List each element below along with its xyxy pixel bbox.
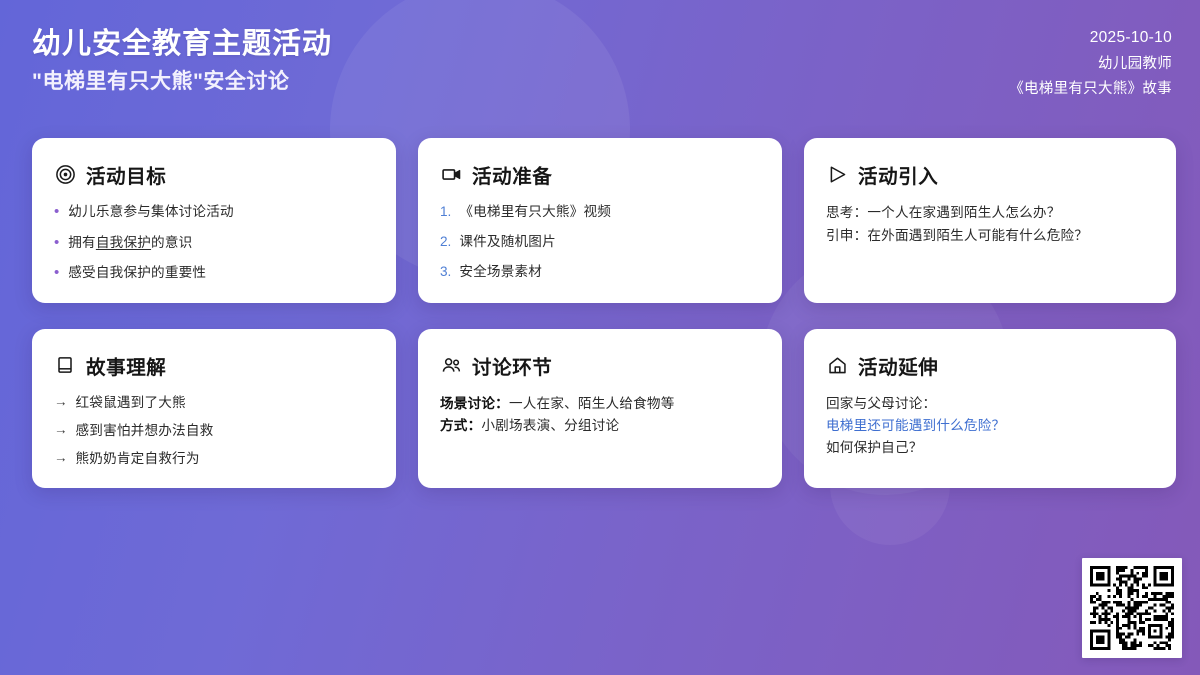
card-introduction[interactable]: 活动引入 思考：一个人在家遇到陌生人怎么办？ 引申：在外面遇到陌生人可能有什么危…: [804, 138, 1176, 303]
slide-header: 幼儿安全教育主题活动 "电梯里有只大熊"安全讨论 2025-10-10 幼儿园教…: [0, 0, 1200, 120]
header-meta: 2025-10-10 幼儿园教师 《电梯里有只大熊》故事: [1009, 26, 1172, 101]
meta-source: 《电梯里有只大熊》故事: [1009, 78, 1172, 100]
list-item: • 感受自我保护的重要性: [54, 263, 374, 283]
list-item: → 感到害怕并想办法自救: [54, 421, 374, 440]
play-icon: [826, 164, 848, 186]
card-header: 活动引入: [826, 160, 1154, 189]
header-title-group: 幼儿安全教育主题活动 "电梯里有只大熊"安全讨论: [32, 26, 332, 98]
text-line: 引申：在外面遇到陌生人可能有什么危险？: [826, 225, 1154, 248]
book-icon: [54, 354, 76, 376]
card-title: 讨论环节: [472, 351, 552, 380]
list-item-label: 拥有自我保护的意识: [68, 233, 192, 252]
bullet-dot: •: [54, 202, 59, 222]
card-preparation[interactable]: 活动准备 1. 《电梯里有只大熊》视频 2. 课件及随机图片 3. 安全场景素材: [418, 138, 782, 303]
meta-date: 2025-10-10: [1090, 26, 1172, 50]
page-title: 幼儿安全教育主题活动: [32, 26, 332, 62]
qr-code[interactable]: [1082, 558, 1182, 658]
list-item-label: 感受自我保护的重要性: [68, 263, 206, 282]
target-icon: [54, 164, 76, 186]
card-story-understanding[interactable]: 故事理解 → 红袋鼠遇到了大熊 → 感到害怕并想办法自救 → 熊奶奶肯定自救行为: [32, 329, 396, 488]
card-extension[interactable]: 活动延伸 回家与父母讨论： 电梯里还可能遇到什么危险？ 如何保护自己？: [804, 329, 1176, 488]
arrow-right-icon: →: [54, 421, 68, 440]
list-item-label: 感到害怕并想办法自救: [76, 421, 214, 440]
card-body: 思考：一个人在家遇到陌生人怎么办？ 引申：在外面遇到陌生人可能有什么危险？: [826, 202, 1154, 248]
text-line: 场景讨论：一人在家、陌生人给食物等: [440, 393, 760, 415]
card-title: 故事理解: [86, 351, 166, 380]
card-body: 回家与父母讨论： 电梯里还可能遇到什么危险？ 如何保护自己？: [826, 393, 1154, 459]
arrow-right-icon: →: [54, 393, 68, 412]
card-body: • 幼儿乐意参与集体讨论活动 • 拥有自我保护的意识 • 感受自我保护的重要性: [54, 202, 374, 283]
list-item-label: 红袋鼠遇到了大熊: [76, 393, 186, 412]
card-body: 1. 《电梯里有只大熊》视频 2. 课件及随机图片 3. 安全场景素材: [440, 202, 760, 281]
list-item: 3. 安全场景素材: [440, 262, 760, 281]
card-title: 活动目标: [86, 160, 166, 189]
people-icon: [440, 354, 462, 376]
card-objectives[interactable]: 活动目标 • 幼儿乐意参与集体讨论活动 • 拥有自我保护的意识 • 感受自我保护…: [32, 138, 396, 303]
list-number: 2.: [440, 232, 451, 251]
card-grid: 活动目标 • 幼儿乐意参与集体讨论活动 • 拥有自我保护的意识 • 感受自我保护…: [32, 138, 1178, 488]
text-line: 如何保护自己？: [826, 437, 1154, 459]
card-title: 活动引入: [858, 160, 938, 189]
arrow-right-icon: →: [54, 449, 68, 468]
page-subtitle: "电梯里有只大熊"安全讨论: [32, 66, 332, 98]
list-number: 3.: [440, 262, 451, 281]
list-item: • 幼儿乐意参与集体讨论活动: [54, 202, 374, 222]
card-title: 活动准备: [472, 160, 552, 189]
card-discussion[interactable]: 讨论环节 场景讨论：一人在家、陌生人给食物等 方式：小剧场表演、分组讨论: [418, 329, 782, 488]
qr-code-image: [1090, 566, 1174, 650]
list-number: 1.: [440, 202, 451, 221]
list-item-label: 熊奶奶肯定自救行为: [76, 449, 200, 468]
video-camera-icon: [440, 164, 462, 186]
text-line-link[interactable]: 电梯里还可能遇到什么危险？: [826, 415, 1154, 437]
card-title: 活动延伸: [858, 351, 938, 380]
card-body: → 红袋鼠遇到了大熊 → 感到害怕并想办法自救 → 熊奶奶肯定自救行为: [54, 393, 374, 468]
list-item-label: 课件及随机图片: [459, 232, 556, 251]
list-item-label: 《电梯里有只大熊》视频: [459, 202, 611, 221]
list-item: 1. 《电梯里有只大熊》视频: [440, 202, 760, 221]
bullet-dot: •: [54, 263, 59, 283]
card-header: 活动目标: [54, 160, 374, 189]
card-body: 场景讨论：一人在家、陌生人给食物等 方式：小剧场表演、分组讨论: [440, 393, 760, 437]
meta-author: 幼儿园教师: [1098, 53, 1172, 75]
card-header: 故事理解: [54, 351, 374, 380]
text-line: 思考：一个人在家遇到陌生人怎么办？: [826, 202, 1154, 225]
list-item: → 红袋鼠遇到了大熊: [54, 393, 374, 412]
card-header: 活动延伸: [826, 351, 1154, 380]
text-line: 回家与父母讨论：: [826, 393, 1154, 415]
text-line: 方式：小剧场表演、分组讨论: [440, 415, 760, 437]
list-item: • 拥有自我保护的意识: [54, 233, 374, 253]
list-item: 2. 课件及随机图片: [440, 232, 760, 251]
list-item-label: 安全场景素材: [459, 262, 542, 281]
list-item: → 熊奶奶肯定自救行为: [54, 449, 374, 468]
list-item-label: 幼儿乐意参与集体讨论活动: [68, 202, 234, 221]
bullet-dot: •: [54, 233, 59, 253]
card-header: 活动准备: [440, 160, 760, 189]
card-header: 讨论环节: [440, 351, 760, 380]
home-icon: [826, 354, 848, 376]
